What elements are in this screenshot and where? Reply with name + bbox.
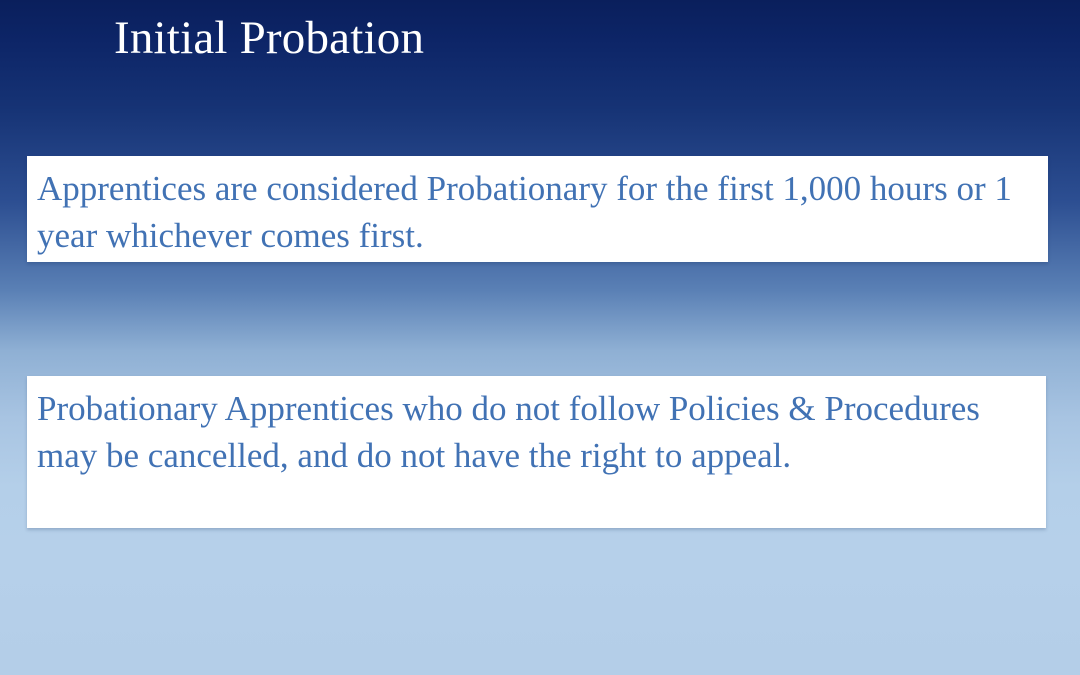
cancellation-policy-text: Probationary Apprentices who do not foll… — [37, 385, 1034, 479]
probation-period-card: Apprentices are considered Probationary … — [27, 156, 1048, 262]
presentation-slide: Initial Probation Apprentices are consid… — [0, 0, 1080, 675]
probation-period-text: Apprentices are considered Probationary … — [37, 165, 1036, 259]
page-title: Initial Probation — [114, 11, 424, 65]
cancellation-policy-card: Probationary Apprentices who do not foll… — [27, 376, 1046, 528]
